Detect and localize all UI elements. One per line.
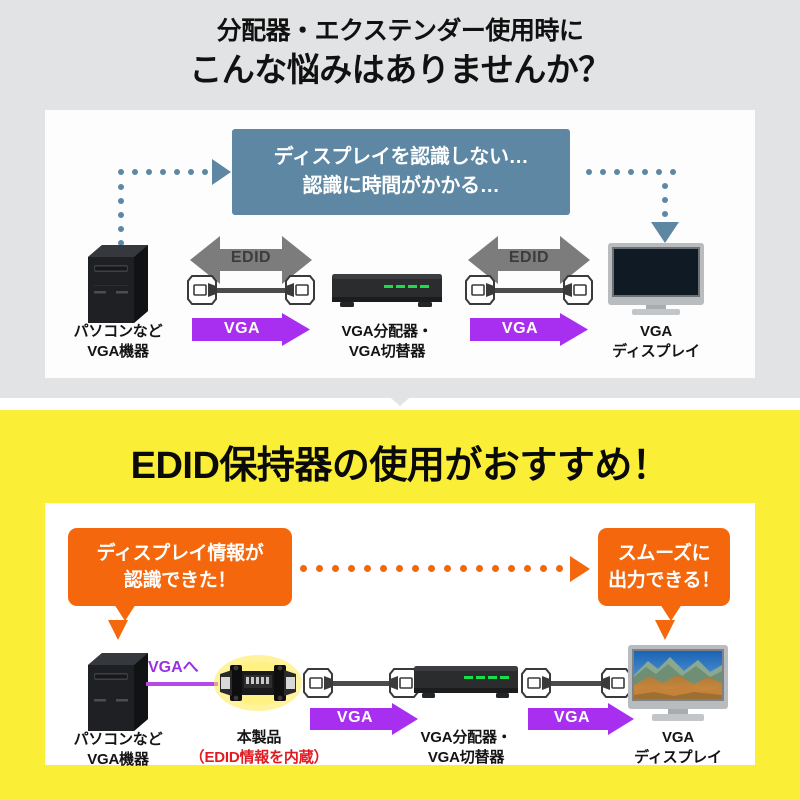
splitter-label-line1: VGA分配器・ bbox=[396, 728, 536, 748]
vga-label-right: VGA bbox=[470, 320, 570, 338]
display-label-line2: ディスプレイ bbox=[586, 342, 726, 362]
bubble-display-recognized: ディスプレイ情報が 認識できた！ bbox=[68, 528, 292, 606]
vga-display-image bbox=[628, 645, 728, 723]
problem-heading-line2: こんな悩みはありませんか？ bbox=[0, 48, 800, 92]
arrow-down-icon bbox=[655, 620, 675, 640]
connector-dot bbox=[412, 565, 419, 572]
solution-heading: EDID保持器の使用がおすすめ！ bbox=[0, 434, 800, 489]
edid-label-left: EDID bbox=[190, 249, 312, 267]
connector-dot bbox=[202, 169, 208, 175]
connector-dot bbox=[524, 565, 531, 572]
edid-label-right: EDID bbox=[468, 249, 590, 267]
pc-tower-image bbox=[88, 653, 148, 731]
product-label-line2: （EDID情報を内蔵） bbox=[178, 748, 340, 768]
problem-callout-line2: 認識に時間がかかる… bbox=[303, 172, 500, 201]
vga-label-left: VGA bbox=[192, 320, 292, 338]
arrow-down-icon bbox=[651, 222, 679, 243]
problem-heading-line1: 分配器・エクステンダー使用時に bbox=[0, 14, 800, 48]
problem-callout: ディスプレイを認識しない… 認識に時間がかかる… bbox=[232, 129, 570, 215]
connector-dot bbox=[428, 565, 435, 572]
connector-dot bbox=[118, 226, 124, 232]
connector-dot bbox=[118, 184, 124, 190]
bubble-tail bbox=[114, 604, 136, 621]
connector-dot bbox=[396, 565, 403, 572]
connector-dot bbox=[460, 565, 467, 572]
connector-dot bbox=[628, 169, 634, 175]
connector-dot bbox=[600, 169, 606, 175]
connector-dot bbox=[476, 565, 483, 572]
splitter-label-line1: VGA分配器・ bbox=[317, 322, 457, 342]
display-label-line1: VGA bbox=[586, 322, 726, 342]
connector-dot bbox=[332, 565, 339, 572]
bubble-left-line1: ディスプレイ情報が bbox=[97, 540, 264, 567]
vga-cable-right bbox=[464, 272, 594, 308]
pc-label: パソコンなど VGA機器 bbox=[48, 322, 188, 362]
section-divider-arrow-icon bbox=[368, 378, 432, 406]
connector-dot bbox=[118, 212, 124, 218]
bubble-right-line1: スムーズに bbox=[618, 540, 711, 567]
pc-label-line1: パソコンなど bbox=[48, 730, 188, 750]
vga-display-image bbox=[608, 243, 704, 317]
display-label: VGA ディスプレイ bbox=[586, 322, 726, 362]
vga-label-right: VGA bbox=[528, 709, 616, 727]
vga-cable-left bbox=[302, 665, 420, 701]
connector-dot bbox=[540, 565, 547, 572]
connector-dot bbox=[348, 565, 355, 572]
bubble-left-line2: 認識できた！ bbox=[124, 567, 236, 594]
connector-dot bbox=[364, 565, 371, 572]
vga-cable-left bbox=[186, 272, 316, 308]
arrow-down-icon bbox=[108, 620, 128, 640]
product-adapter-image bbox=[212, 653, 304, 713]
connector-dot bbox=[556, 565, 563, 572]
pc-label-line2: VGA機器 bbox=[48, 750, 188, 770]
connector-dot bbox=[444, 565, 451, 572]
connector-dot bbox=[316, 565, 323, 572]
connector-dot bbox=[492, 565, 499, 572]
splitter-label-line2: VGA切替器 bbox=[396, 748, 536, 768]
connector-dot bbox=[670, 169, 676, 175]
pc-tower-image bbox=[88, 245, 148, 323]
connector-dot bbox=[662, 183, 668, 189]
connector-dot bbox=[662, 211, 668, 217]
connector-dot bbox=[642, 169, 648, 175]
solution-section: EDID保持器の使用がおすすめ！ ディスプレイ情報が 認識できた！ スムーズに bbox=[0, 410, 800, 800]
display-label: VGA ディスプレイ bbox=[608, 728, 748, 768]
bubble-right-line2: 出力できる！ bbox=[608, 567, 720, 594]
connector-dot bbox=[160, 169, 166, 175]
vga-label-mid: VGA bbox=[310, 709, 400, 727]
connector-dot bbox=[380, 565, 387, 572]
vga-link-line bbox=[146, 682, 218, 686]
bubble-tail bbox=[660, 604, 682, 621]
problem-callout-line1: ディスプレイを認識しない… bbox=[274, 143, 529, 172]
problem-heading: 分配器・エクステンダー使用時に こんな悩みはありませんか？ bbox=[0, 14, 800, 92]
connector-dot bbox=[174, 169, 180, 175]
vga-to-label: VGAへ bbox=[148, 653, 199, 677]
problem-section: 分配器・エクステンダー使用時に こんな悩みはありませんか？ ディスプレイを認識し… bbox=[0, 0, 800, 398]
connector-dot bbox=[132, 169, 138, 175]
connector-dot bbox=[300, 565, 307, 572]
connector-dot bbox=[118, 169, 124, 175]
connector-dot bbox=[656, 169, 662, 175]
vga-cable-right bbox=[520, 665, 632, 701]
bubble-smooth-output: スムーズに 出力できる！ bbox=[598, 528, 730, 606]
pc-label-line1: パソコンなど bbox=[48, 322, 188, 342]
vga-arrow-right: VGA bbox=[470, 313, 588, 346]
arrow-right-icon bbox=[212, 159, 231, 185]
connector-dot bbox=[118, 198, 124, 204]
vga-splitter-image bbox=[412, 660, 520, 704]
connector-dot bbox=[188, 169, 194, 175]
vga-splitter-image bbox=[330, 268, 444, 312]
connector-dot bbox=[662, 197, 668, 203]
splitter-label: VGA分配器・ VGA切替器 bbox=[396, 728, 536, 768]
vga-arrow-left: VGA bbox=[192, 313, 310, 346]
connector-dot bbox=[146, 169, 152, 175]
splitter-label: VGA分配器・ VGA切替器 bbox=[317, 322, 457, 362]
display-label-line1: VGA bbox=[608, 728, 748, 748]
pc-label: パソコンなど VGA機器 bbox=[48, 730, 188, 770]
connector-dot bbox=[586, 169, 592, 175]
infographic-root: 分配器・エクステンダー使用時に こんな悩みはありませんか？ ディスプレイを認識し… bbox=[0, 0, 800, 800]
pc-label-line2: VGA機器 bbox=[48, 342, 188, 362]
connector-dot bbox=[614, 169, 620, 175]
connector-dot bbox=[508, 565, 515, 572]
splitter-label-line2: VGA切替器 bbox=[317, 342, 457, 362]
display-label-line2: ディスプレイ bbox=[608, 748, 748, 768]
arrow-right-icon bbox=[570, 556, 590, 582]
